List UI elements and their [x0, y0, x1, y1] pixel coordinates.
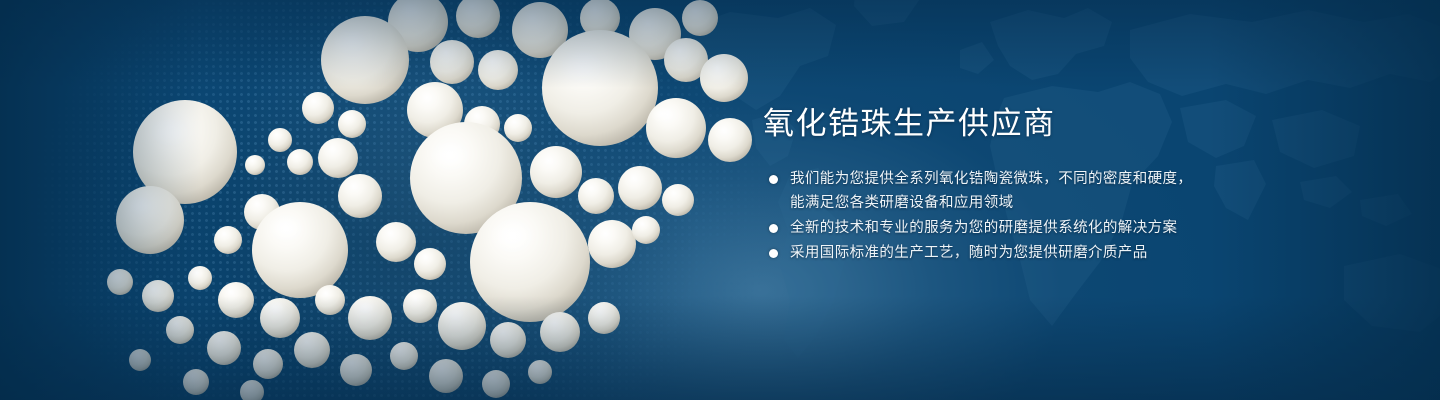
- edge-vignette: [0, 0, 1440, 400]
- hero-banner: 氧化锆珠生产供应商 我们能为您提供全系列氧化锆陶瓷微珠，不同的密度和硬度， 能满…: [0, 0, 1440, 400]
